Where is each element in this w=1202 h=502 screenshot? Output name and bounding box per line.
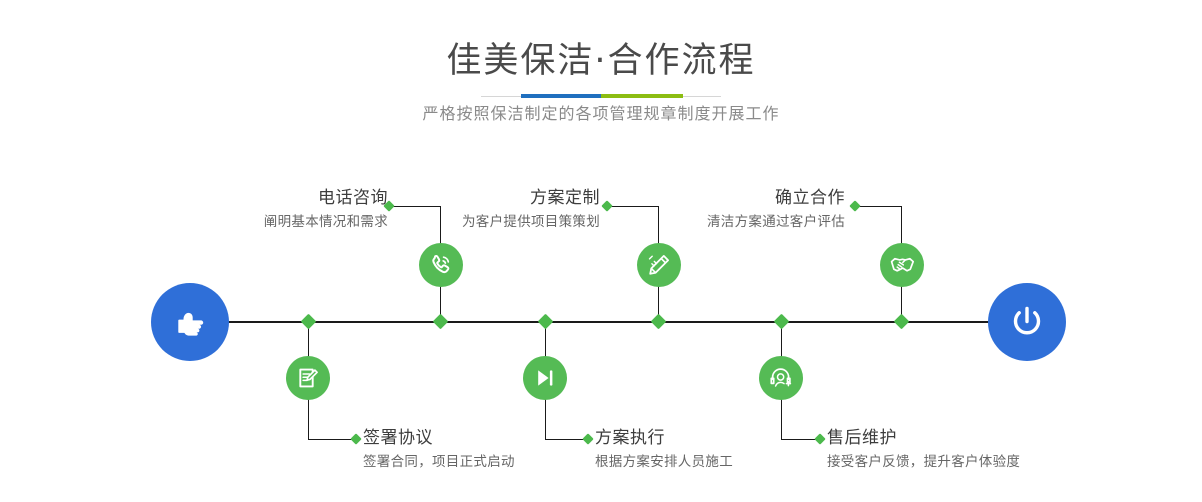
step-3-title: 方案定制 (380, 190, 600, 207)
step-5-title: 确立合作 (660, 190, 845, 207)
timeline-start-node (151, 283, 229, 361)
title-divider (481, 94, 721, 98)
page-title: 佳美保洁·合作流程 (0, 0, 1202, 79)
step-1-title: 电话咨询 (140, 190, 388, 207)
pencil-ruler-icon (646, 252, 672, 278)
header: 佳美保洁·合作流程 (0, 0, 1202, 79)
step-4-icon-badge (523, 356, 567, 400)
play-forward-icon (532, 365, 558, 391)
pointing-hand-icon (170, 302, 210, 342)
step-5-icon-badge (880, 243, 924, 287)
document-edit-icon (295, 365, 321, 391)
step-5-label-line (857, 206, 902, 207)
step-6-label: 售后维护 接受客户反馈，提升客户体验度 (827, 430, 1157, 470)
step-2-label-marker (350, 433, 361, 444)
process-flow-infographic: 佳美保洁·合作流程 严格按照保洁制定的各项管理规章制度开展工作 (0, 0, 1202, 502)
step-6-spine-marker (774, 314, 790, 330)
step-5-spine-marker (894, 314, 910, 330)
power-button-icon (1006, 301, 1048, 343)
step-3-icon-badge (637, 243, 681, 287)
step-2-spine-marker (301, 314, 317, 330)
step-3-label-line (609, 206, 659, 207)
step-2-icon-badge (286, 356, 330, 400)
headset-support-icon (768, 365, 794, 391)
phone-call-icon (428, 252, 454, 278)
handshake-icon (889, 252, 916, 279)
step-1-spine-marker (433, 314, 449, 330)
step-5-label: 确立合作 清洁方案通过客户评估 (660, 190, 845, 230)
step-6-subtitle: 接受客户反馈，提升客户体验度 (827, 456, 1157, 470)
step-5-label-marker (849, 200, 860, 211)
divider-segment-green (601, 94, 683, 98)
step-6-icon-badge (759, 356, 803, 400)
timeline-end-node (988, 283, 1066, 361)
step-6-title: 售后维护 (827, 430, 1157, 447)
step-1-icon-badge (419, 243, 463, 287)
step-3-label: 方案定制 为客户提供项目策策划 (380, 190, 600, 230)
step-1-subtitle: 阐明基本情况和需求 (140, 216, 388, 230)
step-4-spine-marker (538, 314, 554, 330)
step-1-label: 电话咨询 阐明基本情况和需求 (140, 190, 388, 230)
divider-segment-blue (521, 94, 601, 98)
step-3-label-marker (601, 200, 612, 211)
step-5-subtitle: 清洁方案通过客户评估 (660, 216, 845, 230)
page-subtitle: 严格按照保洁制定的各项管理规章制度开展工作 (0, 106, 1202, 122)
step-3-subtitle: 为客户提供项目策策划 (380, 216, 600, 230)
step-3-spine-marker (651, 314, 667, 330)
